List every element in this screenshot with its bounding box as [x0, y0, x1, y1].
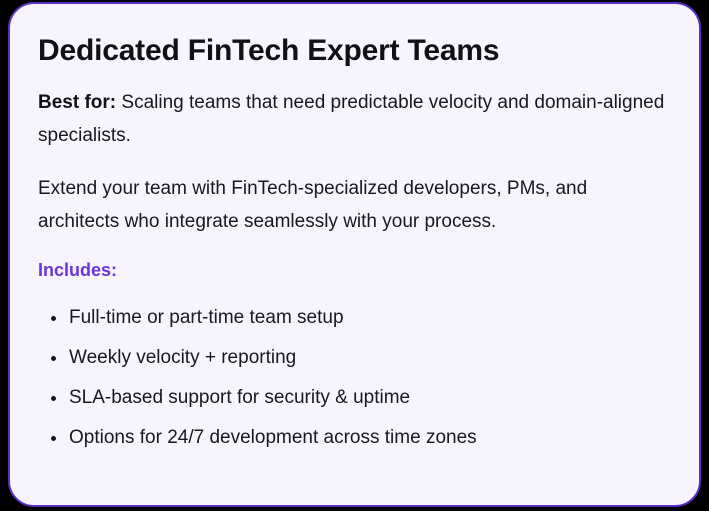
description-paragraph: Extend your team with FinTech-specialize… — [38, 172, 671, 238]
best-for-label: Best for: — [38, 92, 116, 113]
includes-label: Includes: — [38, 258, 671, 282]
bullet-icon — [51, 436, 56, 441]
list-item-label: Weekly velocity + reporting — [69, 347, 296, 368]
list-item-label: Full-time or part-time team setup — [69, 307, 344, 328]
includes-list: Full-time or part-time team setup Weekly… — [38, 298, 671, 458]
list-item: Options for 24/7 development across time… — [38, 418, 671, 458]
bullet-icon — [51, 316, 56, 321]
list-item: Weekly velocity + reporting — [38, 338, 671, 378]
best-for-text: Scaling teams that need predictable velo… — [38, 92, 664, 146]
list-item: Full-time or part-time team setup — [38, 298, 671, 338]
fintech-expert-teams-card: Dedicated FinTech Expert Teams Best for:… — [8, 2, 701, 507]
bullet-icon — [51, 396, 56, 401]
list-item-label: Options for 24/7 development across time… — [69, 427, 477, 448]
bullet-icon — [51, 356, 56, 361]
page-title: Dedicated FinTech Expert Teams — [38, 32, 671, 70]
list-item-label: SLA-based support for security & uptime — [69, 387, 410, 408]
best-for-paragraph: Best for: Scaling teams that need predic… — [38, 86, 671, 152]
list-item: SLA-based support for security & uptime — [38, 378, 671, 418]
